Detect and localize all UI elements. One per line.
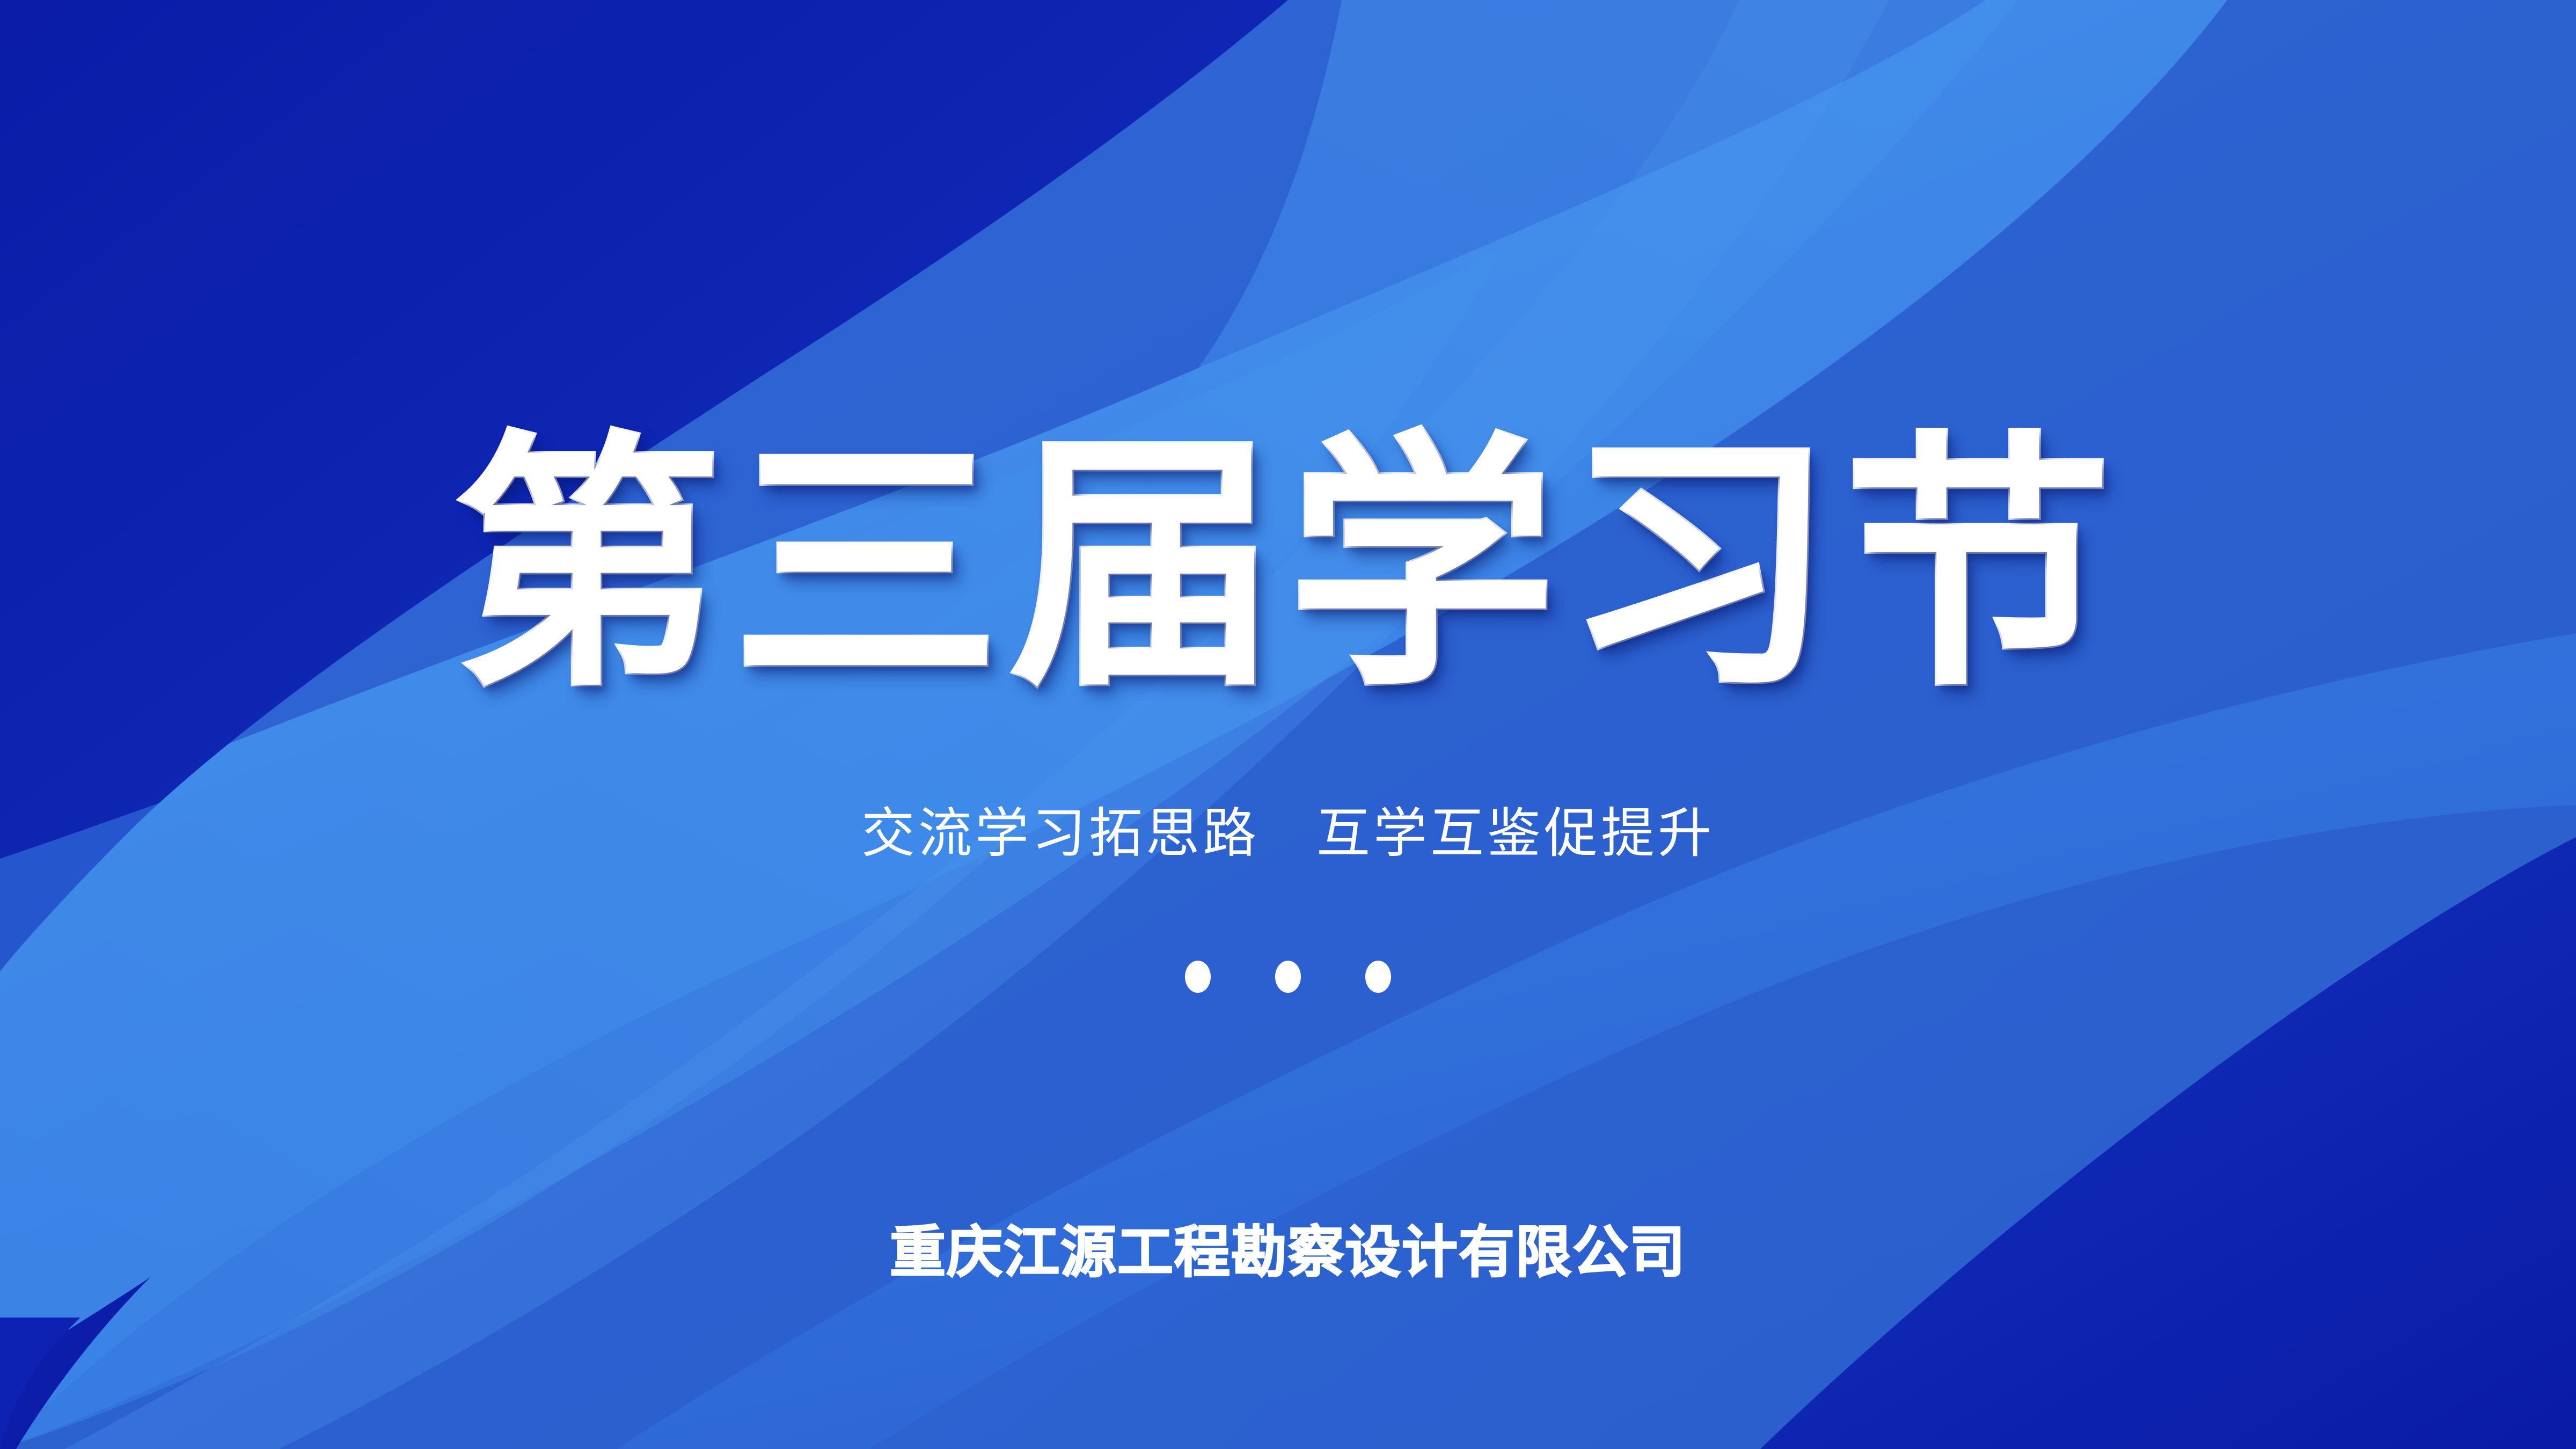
dot-icon — [1185, 961, 1211, 993]
company-block: 重庆江源工程勘察设计有限公司 — [0, 1217, 2576, 1287]
dot-icon — [1275, 961, 1301, 993]
page-title: 第三届学习节 — [454, 424, 2122, 708]
title-block: 第三届学习节 — [0, 424, 2576, 708]
poster-content: 第三届学习节 交流学习拓思路 互学互鉴促提升 重庆江源工程勘察设计有限公司 — [0, 0, 2576, 1449]
page-subtitle: 交流学习拓思路 互学互鉴促提升 — [861, 799, 1715, 868]
dot-icon — [1365, 961, 1391, 993]
separator-dots — [0, 961, 2576, 993]
poster-canvas: 第三届学习节 交流学习拓思路 互学互鉴促提升 重庆江源工程勘察设计有限公司 — [0, 0, 2576, 1449]
subtitle-block: 交流学习拓思路 互学互鉴促提升 — [0, 799, 2576, 868]
company-name: 重庆江源工程勘察设计有限公司 — [890, 1217, 1686, 1287]
